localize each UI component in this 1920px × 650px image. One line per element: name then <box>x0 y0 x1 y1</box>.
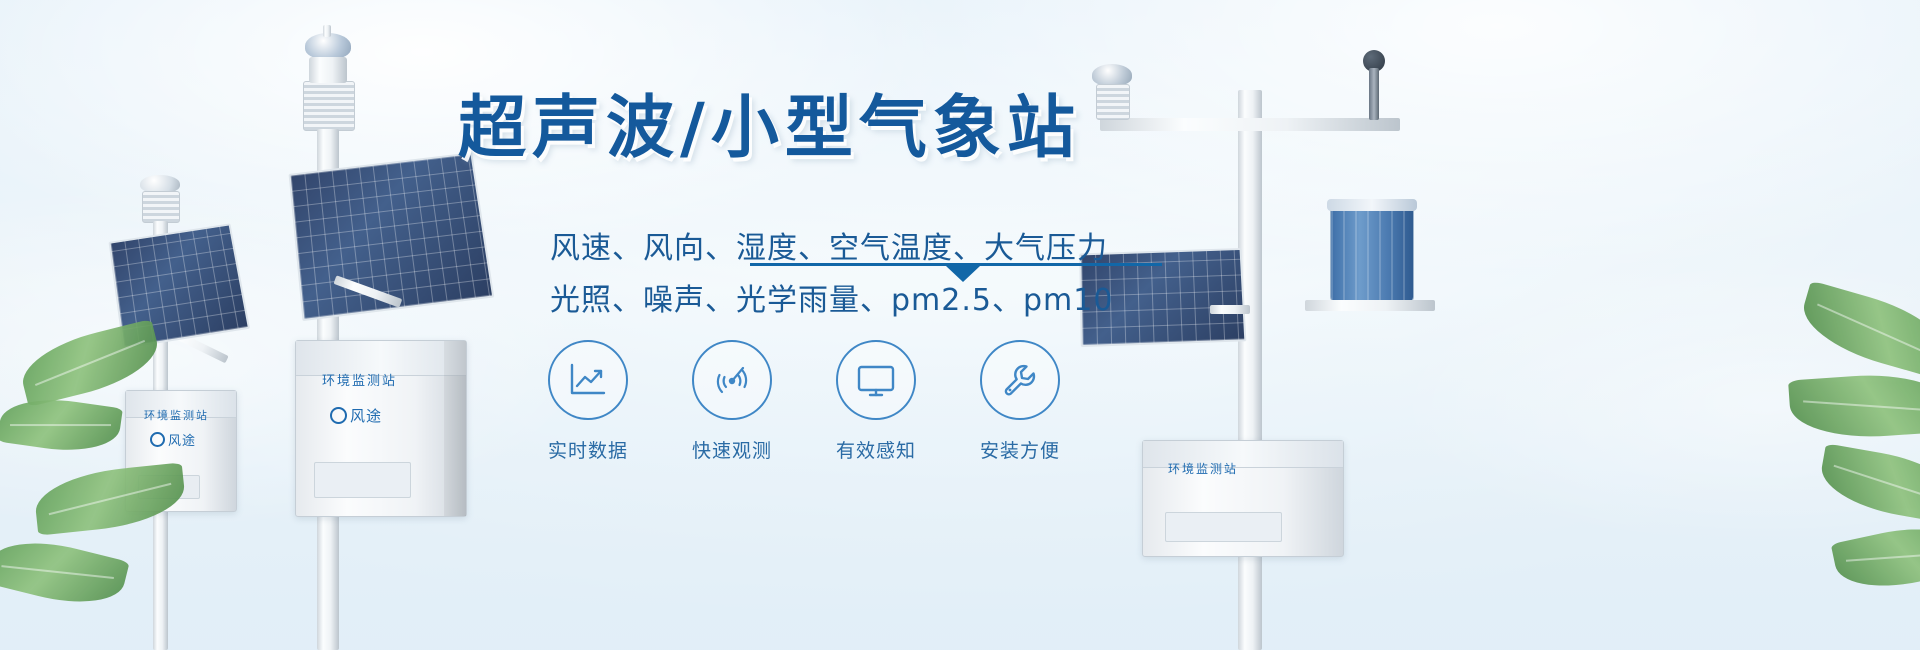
sensor-stem <box>1369 68 1379 120</box>
subtitle-line-2: 光照、噪声、光学雨量、pm2.5、pm10 <box>550 275 1140 327</box>
line-chart-icon <box>548 340 628 420</box>
radiation-shield <box>303 81 355 131</box>
feature-label: 快速观测 <box>692 436 770 463</box>
brand-logo: 风途 <box>150 430 196 449</box>
shelf-arm <box>1305 300 1435 311</box>
page-title: 超声波/小型气象站 <box>440 95 1140 163</box>
product-banner: 环境监测站 风途 环境监测站 风途 <box>0 0 1920 650</box>
enclosure-vent <box>314 462 411 498</box>
feature-item-effective-sensing[interactable]: 有效感知 <box>836 340 914 463</box>
brand-logo: 风途 <box>330 405 382 426</box>
subtitle-line-1: 风速、风向、湿度、空气温度、大气压力 <box>550 223 1140 275</box>
mast-pole <box>1238 90 1262 650</box>
sensor-housing <box>309 57 347 83</box>
device-label: 环境监测站 <box>322 370 397 389</box>
enclosure-side-shadow <box>444 341 466 516</box>
rain-gauge-rim <box>1327 199 1417 211</box>
feature-label: 安装方便 <box>980 436 1058 463</box>
radiation-shield <box>142 191 180 223</box>
enclosure-box <box>1142 440 1344 557</box>
feature-item-realtime-data[interactable]: 实时数据 <box>548 340 626 463</box>
sensor-stem <box>323 25 331 37</box>
brand-name: 风途 <box>168 430 196 449</box>
feature-label: 有效感知 <box>836 436 914 463</box>
enclosure-vent <box>1165 512 1282 542</box>
feature-label: 实时数据 <box>548 436 626 463</box>
panel-bracket <box>1210 305 1250 314</box>
brand-mark-icon <box>330 407 347 424</box>
brand-name: 风途 <box>350 405 382 426</box>
enclosure-box <box>295 340 467 517</box>
subtitle-block: 风速、风向、湿度、空气温度、大气压力 光照、噪声、光学雨量、pm2.5、pm10 <box>440 223 1140 327</box>
wrench-icon <box>980 340 1060 420</box>
device-label: 环境监测站 <box>144 407 209 423</box>
monitor-icon <box>836 340 916 420</box>
banner-content: 超声波/小型气象站 风速、风向、湿度、空气温度、大气压力 光照、噪声、光学雨量、… <box>440 95 1140 327</box>
title-divider <box>750 263 1162 266</box>
device-label: 环境监测站 <box>1168 460 1238 477</box>
feature-item-fast-observation[interactable]: 快速观测 <box>692 340 770 463</box>
brand-mark-icon <box>150 432 165 447</box>
ultrasonic-wind-sensor-icon <box>1092 64 1132 86</box>
cross-arm <box>1100 118 1400 131</box>
radar-signal-icon <box>692 340 772 420</box>
rain-gauge <box>1330 205 1414 302</box>
feature-item-easy-installation[interactable]: 安装方便 <box>980 340 1058 463</box>
feature-list: 实时数据 快速观测 <box>548 340 1058 463</box>
